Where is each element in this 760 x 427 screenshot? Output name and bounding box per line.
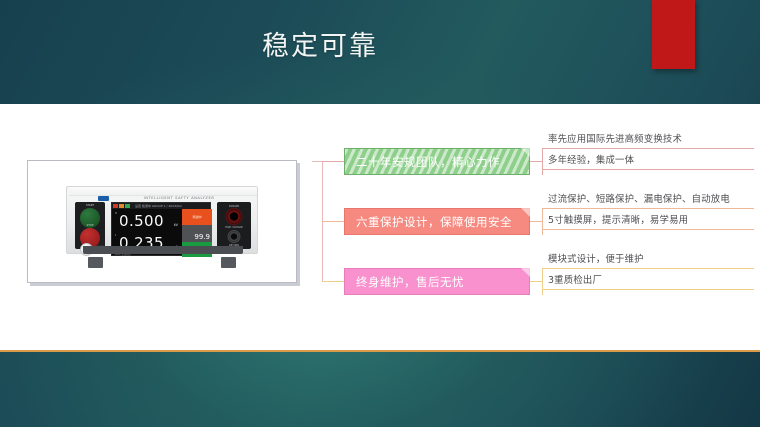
detail-text-1-1: 率先应用国际先进高频变换技术	[548, 131, 754, 149]
detail-connector-1	[530, 161, 542, 162]
detail-trunk-3	[542, 268, 543, 295]
node-fold-corner-icon	[521, 208, 530, 217]
detail-text-1-2: 多年经验，集成一体	[548, 152, 754, 170]
detail-text-2-1: 过流保护、短路保护、漏电保护、自动放电	[548, 191, 754, 209]
accent-block	[652, 0, 695, 69]
detail-connector-3	[530, 281, 542, 282]
mindmap: 二十年安规团队，精心力作 六重保护设计，保障使用安全 终身维护，售后无忧 率先应…	[0, 104, 760, 352]
detail-text-2-2: 5寸触摸屏，提示清晰，易学易用	[548, 212, 754, 230]
node-fold-corner-icon	[521, 148, 530, 157]
detail-text-3-1: 模块式设计，便于维护	[548, 251, 754, 269]
slide-canvas: 稳定可靠 INTELLIGENT SAFTY ANALYZER START ST…	[0, 0, 760, 427]
slide-title-bar: 稳定可靠	[0, 0, 760, 104]
branch-connector-3	[322, 281, 344, 282]
page-title: 稳定可靠	[0, 24, 640, 63]
node-fold-corner-icon	[521, 268, 530, 277]
mindmap-node-3[interactable]: 终身维护，售后无忧	[344, 268, 530, 295]
detail-trunk-1	[542, 148, 543, 175]
branch-connector-1	[322, 161, 344, 162]
mindmap-node-3-label: 终身维护，售后无忧	[356, 274, 464, 290]
mindmap-node-1[interactable]: 二十年安规团队，精心力作	[344, 148, 530, 175]
mindmap-node-2[interactable]: 六重保护设计，保障使用安全	[344, 208, 530, 235]
detail-text-3-2: 3重质检出厂	[548, 272, 754, 290]
detail-connector-2	[530, 221, 542, 222]
mindmap-node-1-label: 二十年安规团队，精心力作	[356, 154, 500, 170]
branch-connector-2	[322, 221, 344, 222]
detail-trunk-2	[542, 208, 543, 235]
mindmap-node-2-label: 六重保护设计，保障使用安全	[356, 214, 512, 230]
